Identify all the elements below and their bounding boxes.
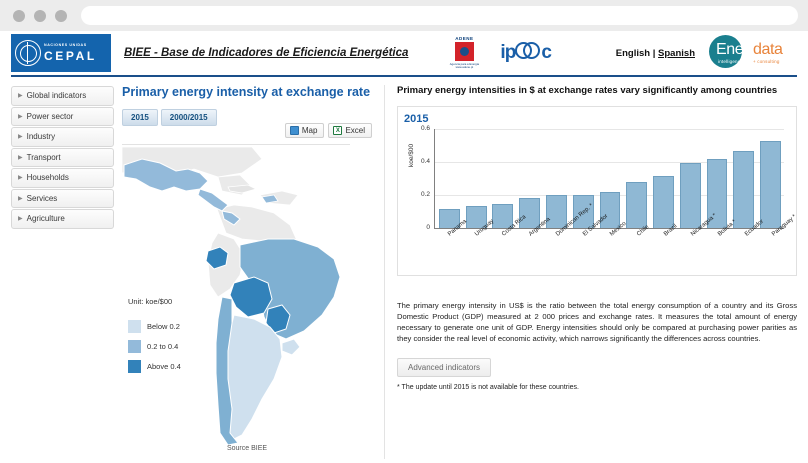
- map-country-uruguay[interactable]: [282, 339, 300, 355]
- footnote: * The update until 2015 is not available…: [397, 384, 579, 391]
- page-title: Primary energy intensity at exchange rat…: [122, 85, 372, 101]
- map-button-label: Map: [302, 126, 318, 135]
- bar-chart-panel: 2015 koe/$00 0.6 0.4 0.2 0 PanamaUruguay…: [397, 106, 797, 276]
- language-spanish-link[interactable]: Spanish: [658, 48, 695, 59]
- chart-bar[interactable]: [733, 151, 754, 228]
- x-tick-label: Brazil: [663, 233, 667, 238]
- adene-logo-name: ADENE: [455, 36, 473, 41]
- excel-icon: X: [333, 126, 342, 135]
- tab-2015[interactable]: 2015: [122, 109, 158, 126]
- chevron-right-icon: ▶: [18, 113, 23, 120]
- page-body: NACIONES UNIDAS CEPAL BIEE - Base de Ind…: [0, 31, 808, 463]
- browser-chrome: [0, 0, 808, 31]
- tab-divider: [122, 144, 350, 145]
- x-tick-label: Bolivia *: [717, 233, 721, 238]
- close-window-dot[interactable]: [13, 10, 25, 22]
- chevron-right-icon: ▶: [18, 215, 23, 222]
- chevron-right-icon: ▶: [18, 133, 23, 140]
- ipeec-logo-prefix: ip: [500, 42, 515, 63]
- map-country-central-america[interactable]: [198, 189, 228, 211]
- adene-logo-mark-icon: [455, 42, 474, 61]
- sidebar-item-label: Households: [27, 173, 69, 182]
- advanced-indicators-button[interactable]: Advanced indicators: [397, 358, 491, 377]
- chevron-right-icon: ▶: [18, 92, 23, 99]
- cepal-logo-name: CEPAL: [44, 50, 97, 62]
- excel-button-label: Excel: [345, 126, 365, 135]
- map-icon: [290, 126, 299, 135]
- sidebar-item-label: Transport: [27, 153, 61, 162]
- x-tick-label: Nicaragua *: [690, 233, 694, 238]
- chart-bar[interactable]: [519, 198, 540, 229]
- content-area: ▶ Global indicators ▶ Power sector ▶ Ind…: [11, 85, 797, 459]
- map-country-argentina[interactable]: [226, 315, 282, 439]
- legend-label: Above 0.4: [147, 362, 181, 371]
- language-separator: |: [653, 48, 656, 59]
- window-controls: [13, 10, 67, 22]
- enerdata-logo-tagline-2: + consulting: [753, 59, 780, 64]
- map-column: Primary energy intensity at exchange rat…: [122, 85, 372, 459]
- x-tick-label: Mexico: [609, 233, 613, 238]
- legend-swatch-icon: [128, 320, 141, 333]
- enerdata-logo-ener: Ener: [716, 41, 748, 59]
- map-legend-unit: Unit: koe/$00: [128, 297, 181, 306]
- y-tick-label: 0: [412, 224, 430, 231]
- legend-item-below-02: Below 0.2: [128, 320, 181, 333]
- sidebar-item-global-indicators[interactable]: ▶ Global indicators: [11, 86, 114, 106]
- address-bar-input[interactable]: [81, 6, 798, 25]
- cepal-logo-text: NACIONES UNIDAS CEPAL: [44, 44, 97, 63]
- sidebar-item-services[interactable]: ▶ Services: [11, 189, 114, 209]
- sidebar-item-households[interactable]: ▶ Households: [11, 168, 114, 188]
- sidebar-item-power-sector[interactable]: ▶ Power sector: [11, 107, 114, 127]
- x-tick-label: Uruguay: [474, 233, 478, 238]
- map-source-label: Source BIEE: [122, 445, 372, 452]
- chart-title: 2015: [404, 113, 788, 125]
- language-switcher: English | Spanish: [616, 48, 695, 59]
- chevron-right-icon: ▶: [18, 154, 23, 161]
- chart-bars: [436, 129, 784, 228]
- legend-label: Below 0.2: [147, 322, 180, 331]
- chart-plot-area: [434, 129, 784, 229]
- description-paragraph: The primary energy intensity in US$ is t…: [397, 300, 797, 344]
- legend-swatch-icon: [128, 360, 141, 373]
- chart-bar[interactable]: [653, 176, 674, 228]
- adene-logo-subtitle: Agencia para a Energia www.adene.pt: [444, 63, 484, 70]
- cepal-logo-subtitle: NACIONES UNIDAS: [44, 44, 97, 48]
- x-tick-label: Paraguay *: [771, 233, 775, 238]
- sidebar-item-label: Global indicators: [27, 91, 87, 100]
- maximize-window-dot[interactable]: [55, 10, 67, 22]
- x-tick-label: Ecuador: [744, 233, 748, 238]
- legend-swatch-icon: [128, 340, 141, 353]
- y-tick-label: 0.6: [412, 125, 430, 132]
- y-tick-label: 0.4: [412, 158, 430, 165]
- x-tick-label: Argentina: [528, 233, 532, 238]
- view-toggle-buttons: Map X Excel: [285, 123, 372, 138]
- legend-item-02-to-04: 0.2 to 0.4: [128, 340, 181, 353]
- adene-logo[interactable]: ADENE Agencia para a Energia www.adene.p…: [444, 36, 484, 70]
- ipeec-logo-rings-icon: [515, 42, 541, 61]
- legend-label: 0.2 to 0.4: [147, 342, 178, 351]
- ipeec-logo[interactable]: ipc: [500, 42, 550, 64]
- un-emblem-icon: [15, 40, 41, 66]
- cepal-logo[interactable]: NACIONES UNIDAS CEPAL: [11, 34, 111, 72]
- sidebar-item-label: Power sector: [27, 112, 74, 121]
- legend-item-above-04: Above 0.4: [128, 360, 181, 373]
- y-tick-label: 0.2: [412, 191, 430, 198]
- sidebar-item-label: Services: [27, 194, 58, 203]
- chevron-right-icon: ▶: [18, 174, 23, 181]
- main-column: Primary energy intensities in $ at excha…: [384, 85, 797, 459]
- map-legend: Unit: koe/$00 Below 0.2 0.2 to 0.4 Above…: [128, 297, 181, 380]
- tab-2000-2015[interactable]: 2000/2015: [161, 109, 217, 126]
- chevron-right-icon: ▶: [18, 195, 23, 202]
- enerdata-logo-tagline-1: intelligence: [718, 59, 743, 64]
- chart-bar[interactable]: [680, 163, 701, 228]
- chart-bar[interactable]: [760, 141, 781, 229]
- enerdata-logo-data: data: [753, 41, 783, 59]
- site-header: NACIONES UNIDAS CEPAL BIEE - Base de Ind…: [11, 31, 797, 77]
- site-title[interactable]: BIEE - Base de Indicadores de Eficiencia…: [124, 47, 408, 59]
- main-headline: Primary energy intensities in $ at excha…: [397, 85, 797, 96]
- minimize-window-dot[interactable]: [34, 10, 46, 22]
- x-tick-label: Costa Rica: [501, 233, 505, 238]
- ipeec-logo-suffix: c: [541, 42, 551, 63]
- x-tick-label: El Salvador: [582, 233, 586, 238]
- chart-bar[interactable]: [626, 182, 647, 228]
- sidebar-item-transport[interactable]: ▶ Transport: [11, 148, 114, 168]
- chart-plot: koe/$00 0.6 0.4 0.2 0 PanamaUruguayCosta…: [434, 129, 784, 269]
- sidebar-nav: ▶ Global indicators ▶ Power sector ▶ Ind…: [11, 85, 114, 459]
- sidebar-item-label: Industry: [27, 132, 55, 141]
- excel-button[interactable]: X Excel: [328, 123, 372, 138]
- sidebar-item-label: Agriculture: [27, 214, 65, 223]
- map-button[interactable]: Map: [285, 123, 325, 138]
- language-english-link[interactable]: English: [616, 48, 650, 59]
- sidebar-item-agriculture[interactable]: ▶ Agriculture: [11, 209, 114, 229]
- x-tick-label: Dominican Rep. *: [555, 233, 559, 238]
- x-tick-label: Chile: [636, 233, 640, 238]
- sidebar-item-industry[interactable]: ▶ Industry: [11, 127, 114, 147]
- map-country-bolivia[interactable]: [230, 277, 272, 317]
- chart-x-labels: PanamaUruguayCosta RicaArgentinaDominica…: [434, 230, 784, 270]
- x-tick-label: Panama: [447, 233, 451, 238]
- enerdata-logo[interactable]: Ener data intelligence + consulting: [709, 34, 795, 72]
